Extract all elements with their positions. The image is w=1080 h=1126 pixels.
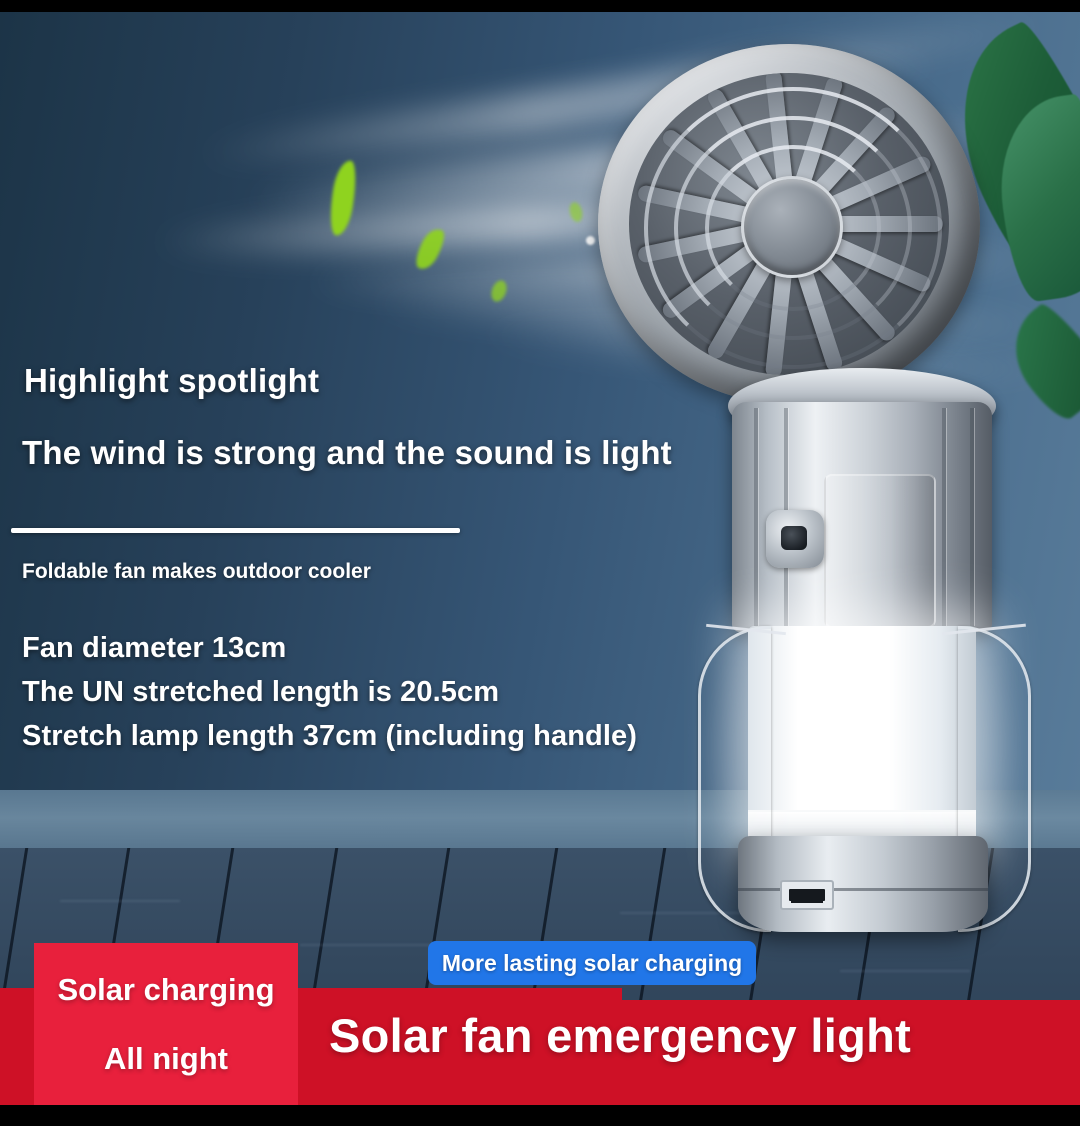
power-button-icon[interactable] bbox=[766, 510, 824, 568]
spec-item: The UN stretched length is 20.5cm bbox=[22, 670, 637, 714]
headline-secondary: The wind is strong and the sound is ligh… bbox=[22, 434, 722, 472]
solar-charging-callout: Solar charging All night bbox=[34, 943, 298, 1105]
marketing-copy: Highlight spotlight The wind is strong a… bbox=[22, 362, 722, 472]
divider bbox=[11, 528, 460, 533]
spec-list: Fan diameter 13cm The UN stretched lengt… bbox=[22, 626, 637, 758]
lantern-base bbox=[738, 836, 988, 932]
solar-charging-line-2: All night bbox=[104, 1041, 228, 1077]
lantern-glow-icon bbox=[748, 626, 976, 856]
letterbox-bottom bbox=[0, 1105, 1080, 1126]
subheadline: Foldable fan makes outdoor cooler bbox=[22, 560, 371, 584]
spec-item: Fan diameter 13cm bbox=[22, 626, 637, 670]
fan-grille-icon bbox=[598, 44, 980, 404]
product-advertisement: Highlight spotlight The wind is strong a… bbox=[0, 0, 1080, 1126]
fan-hub bbox=[741, 176, 843, 278]
solar-charging-line-1: Solar charging bbox=[57, 972, 274, 1008]
solar-charging-badge: More lasting solar charging bbox=[428, 941, 756, 985]
letterbox-top bbox=[0, 0, 1080, 12]
usb-port-icon bbox=[780, 880, 834, 910]
headline-primary: Highlight spotlight bbox=[24, 362, 722, 400]
solar-charging-badge-label: More lasting solar charging bbox=[442, 950, 742, 977]
product-image-solar-fan-lantern bbox=[580, 30, 1050, 960]
spec-item: Stretch lamp length 37cm (including hand… bbox=[22, 714, 637, 758]
lantern-upper-body bbox=[732, 402, 992, 632]
